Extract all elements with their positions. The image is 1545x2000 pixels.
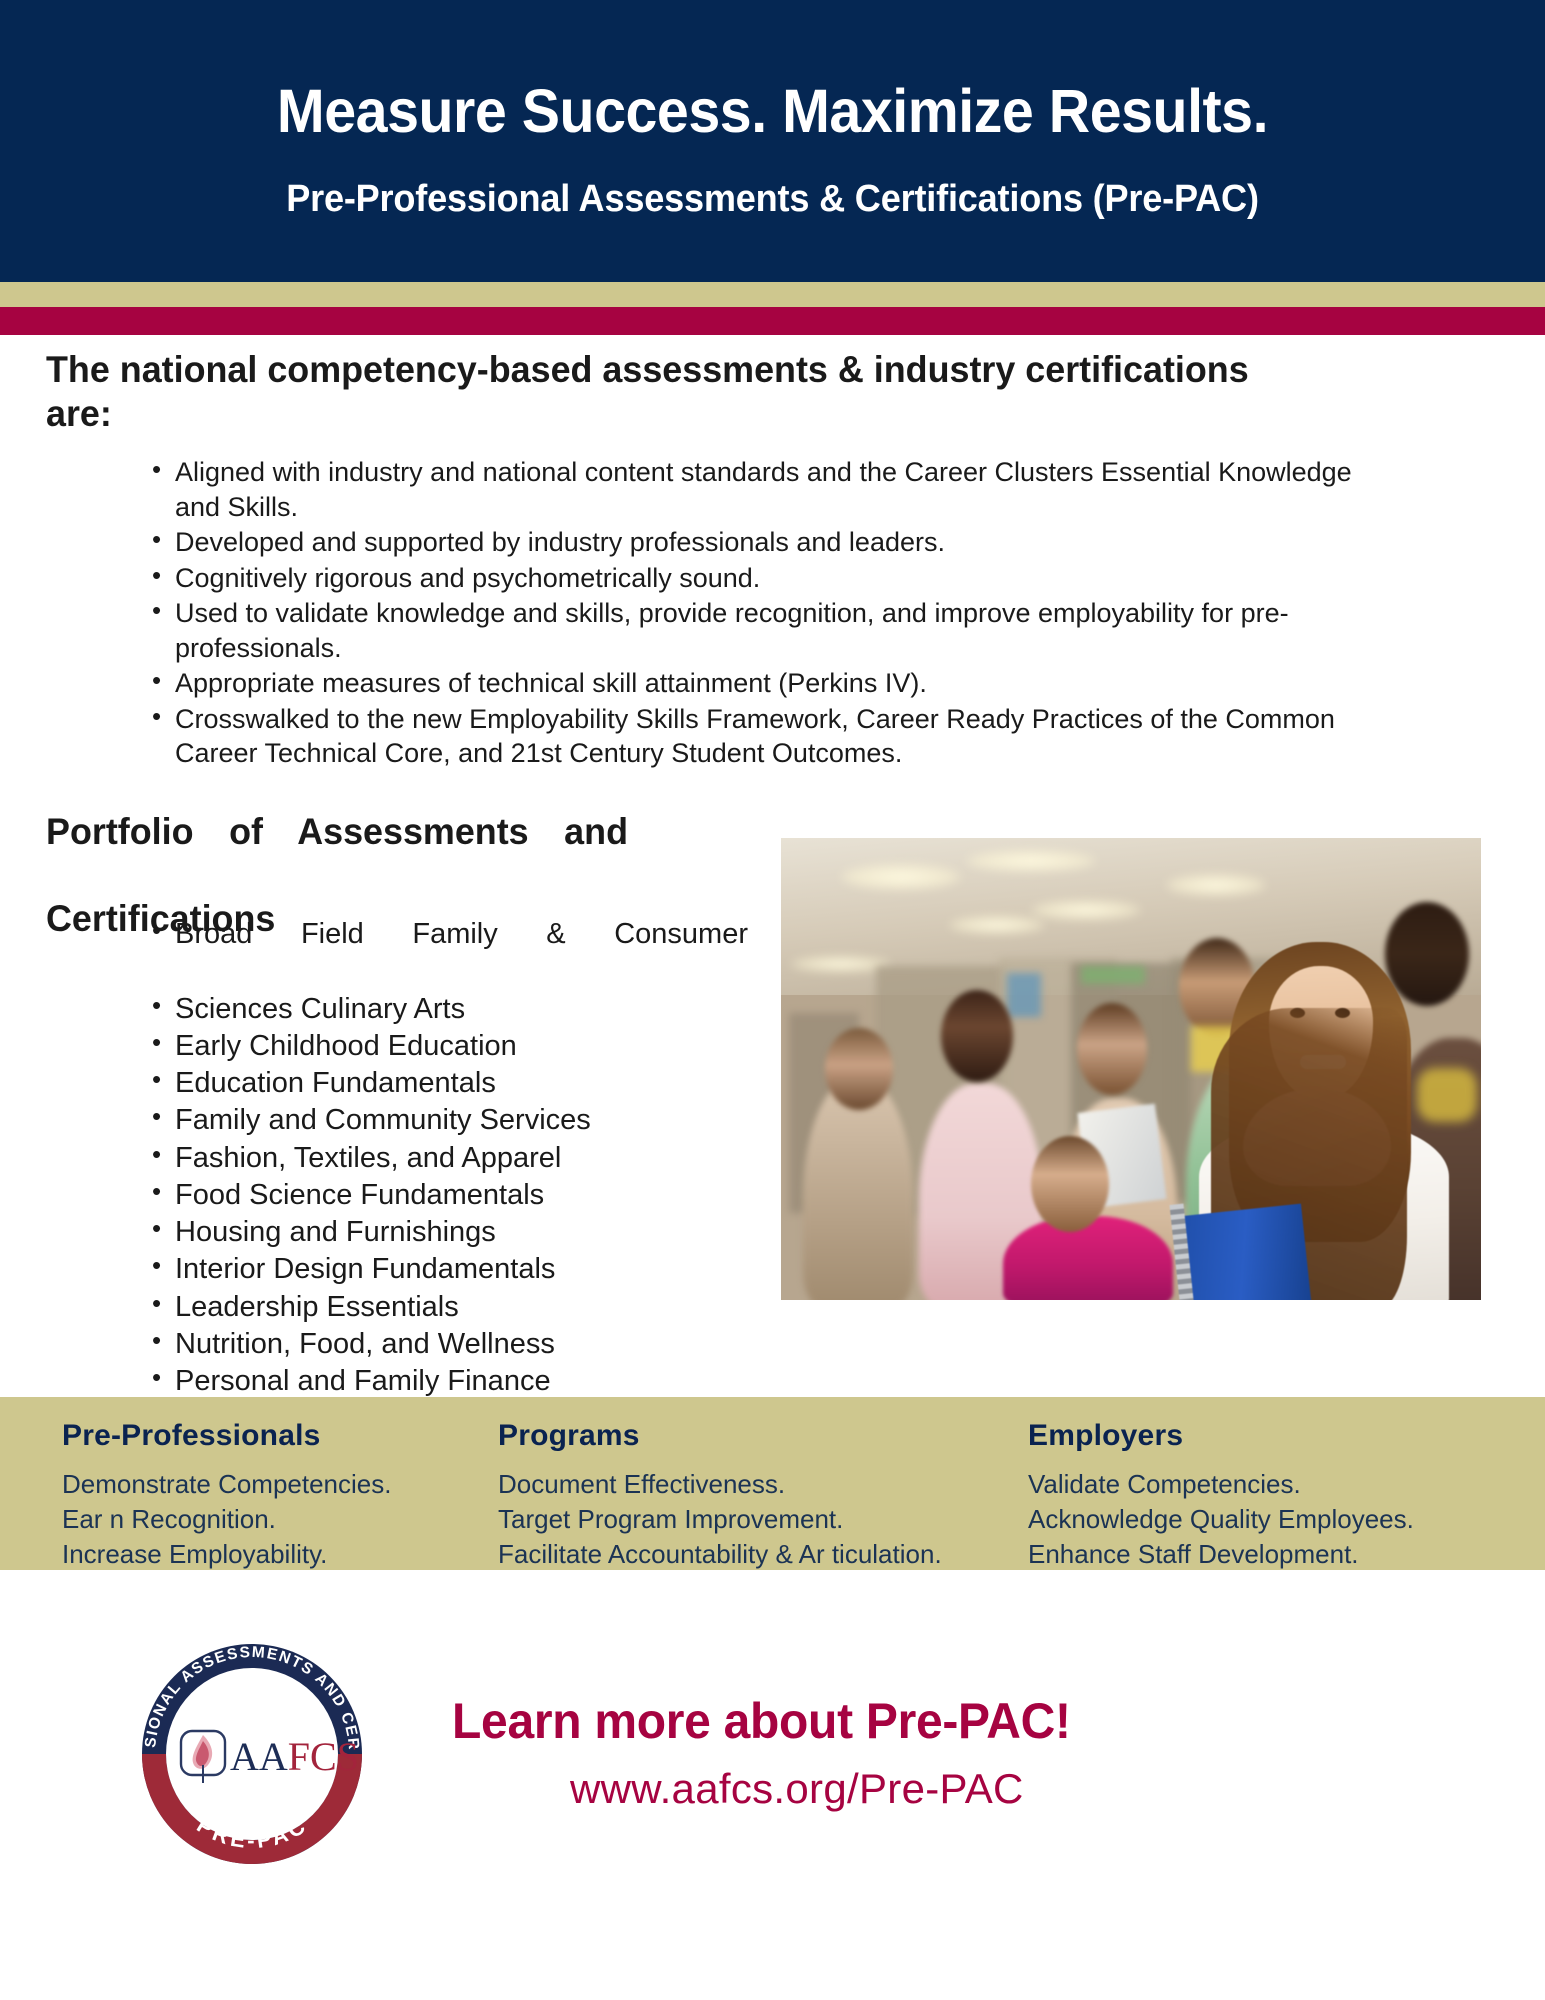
- divider-band-crimson: [0, 307, 1545, 335]
- photo-person-head: [1385, 902, 1469, 1006]
- list-item: Developed and supported by industry prof…: [148, 525, 1378, 560]
- learn-more-cta: Learn more about Pre-PAC!: [452, 1692, 1071, 1750]
- prepac-logo-svg: PRE-PROFESSIONAL ASSESSMENTS AND CERTIFI…: [123, 1625, 381, 1883]
- students-photo: [781, 838, 1481, 1300]
- photo-person-head: [1077, 1003, 1147, 1095]
- photo-person-head: [941, 990, 1013, 1082]
- photo-light: [966, 850, 1096, 872]
- list-item: Used to validate knowledge and skills, p…: [148, 596, 1378, 665]
- list-item: Appropriate measures of technical skill …: [148, 666, 1378, 701]
- benefits-line: Enhance Staff Development.: [1028, 1537, 1414, 1572]
- portfolio-heading-line-1: Portfolio of Assessments and: [46, 810, 628, 897]
- list-item: Housing and Furnishings: [148, 1214, 748, 1251]
- list-item: Education Fundamentals: [148, 1065, 748, 1102]
- photo-poster: [1007, 973, 1041, 1017]
- list-item: Crosswalked to the new Employability Ski…: [148, 702, 1378, 771]
- photo-person-head: [825, 1028, 893, 1110]
- list-item: Leadership Essentials: [148, 1289, 748, 1326]
- list-item: Family and Community Services: [148, 1102, 748, 1139]
- assessments-heading: The national competency-based assessment…: [46, 348, 1288, 435]
- benefits-line: Increase Employability.: [62, 1537, 391, 1572]
- photo-light: [1031, 900, 1141, 920]
- list-item: Broad Field Family & Consumer: [148, 916, 748, 991]
- list-item: Cognitively rigorous and psychometricall…: [148, 561, 1378, 596]
- portfolio-list: Broad Field Family & Consumer Sciences C…: [148, 916, 748, 1400]
- benefits-column-pre-professionals: Pre-Professionals Demonstrate Competenci…: [62, 1419, 391, 1571]
- photo-shirt-graphic: [1417, 1068, 1477, 1122]
- list-item: Interior Design Fundamentals: [148, 1251, 748, 1288]
- website-url[interactable]: www.aafcs.org/Pre-PAC: [570, 1765, 1024, 1813]
- page-title: Measure Success. Maximize Results.: [46, 76, 1498, 146]
- photo-person: [1003, 1216, 1173, 1300]
- benefits-line: Acknowledge Quality Employees.: [1028, 1502, 1414, 1537]
- list-item: Aligned with industry and national conte…: [148, 455, 1378, 524]
- list-item: Food Science Fundamentals: [148, 1177, 748, 1214]
- photo-light: [841, 864, 961, 890]
- benefits-column-employers: Employers Validate Competencies. Acknowl…: [1028, 1419, 1414, 1571]
- aafcs-wordmark: AAFCS: [230, 1734, 359, 1779]
- list-item: Sciences Culinary Arts: [148, 991, 748, 1028]
- page-header: Measure Success. Maximize Results. Pre-P…: [0, 0, 1545, 282]
- benefits-line: Ear n Recognition.: [62, 1502, 391, 1537]
- list-item: Fashion, Textiles, and Apparel: [148, 1140, 748, 1177]
- photo-sign: [1081, 966, 1145, 984]
- benefits-column-title: Programs: [498, 1419, 942, 1453]
- benefits-line: Demonstrate Competencies.: [62, 1467, 391, 1502]
- benefits-line: Target Program Improvement.: [498, 1502, 942, 1537]
- prepac-logo: PRE-PROFESSIONAL ASSESSMENTS AND CERTIFI…: [123, 1625, 381, 1883]
- divider-band-tan: [0, 282, 1545, 307]
- photo-person-head: [1031, 1136, 1109, 1232]
- benefits-line: Document Effectiveness.: [498, 1467, 942, 1502]
- benefits-column-programs: Programs Document Effectiveness. Target …: [498, 1419, 942, 1571]
- benefits-line: Facilitate Accountability & Ar ticulatio…: [498, 1537, 942, 1572]
- page-subtitle: Pre-Professional Assessments & Certifica…: [39, 178, 1507, 221]
- benefits-line: Validate Competencies.: [1028, 1467, 1414, 1502]
- benefits-strip: Pre-Professionals Demonstrate Competenci…: [0, 1397, 1545, 1570]
- benefits-column-title: Employers: [1028, 1419, 1414, 1453]
- photo-light: [1166, 874, 1266, 896]
- list-item: Personal and Family Finance: [148, 1363, 748, 1400]
- list-item: Early Childhood Education: [148, 1028, 748, 1065]
- benefits-column-title: Pre-Professionals: [62, 1419, 391, 1453]
- assessments-bullet-list: Aligned with industry and national conte…: [148, 455, 1378, 772]
- list-item: Nutrition, Food, and Wellness: [148, 1326, 748, 1363]
- photo-light: [949, 916, 1045, 934]
- photo-notebook: [1174, 1204, 1313, 1300]
- photo-person: [803, 1078, 913, 1300]
